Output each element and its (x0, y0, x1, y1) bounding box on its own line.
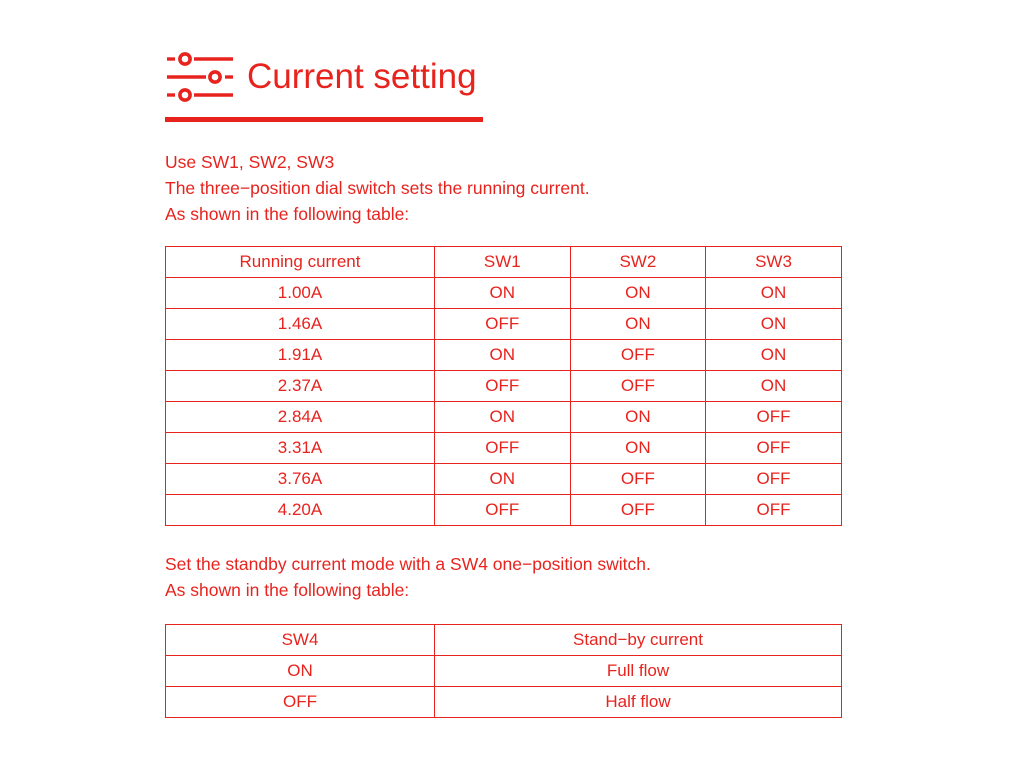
intro-paragraph: Use SW1, SW2, SW3 The three−position dia… (165, 149, 590, 227)
cell-sw2: OFF (570, 495, 706, 526)
intro-line-2: The three−position dial switch sets the … (165, 175, 590, 201)
cell-sw2: ON (570, 278, 706, 309)
column-header-sw2: SW2 (570, 247, 706, 278)
cell-sw2: OFF (570, 340, 706, 371)
cell-current: 2.37A (166, 371, 435, 402)
table-row: 2.37A OFF OFF ON (166, 371, 842, 402)
table-row: 3.31A OFF ON OFF (166, 433, 842, 464)
cell-sw2: ON (570, 402, 706, 433)
table-row: 1.00A ON ON ON (166, 278, 842, 309)
cell-sw1: ON (435, 278, 571, 309)
cell-sw3: OFF (706, 495, 842, 526)
column-header-running-current: Running current (166, 247, 435, 278)
table-header-row: SW4 Stand−by current (166, 625, 842, 656)
cell-current: 1.00A (166, 278, 435, 309)
standby-intro-paragraph: Set the standby current mode with a SW4 … (165, 551, 651, 603)
intro-line-3: As shown in the following table: (165, 201, 590, 227)
table-row: 1.91A ON OFF ON (166, 340, 842, 371)
cell-standby-mode: Half flow (435, 687, 842, 718)
cell-sw3: ON (706, 278, 842, 309)
cell-sw3: OFF (706, 402, 842, 433)
cell-sw2: OFF (570, 464, 706, 495)
table-row: 3.76A ON OFF OFF (166, 464, 842, 495)
table-row: OFF Half flow (166, 687, 842, 718)
page-title: Current setting (237, 57, 477, 97)
cell-current: 3.76A (166, 464, 435, 495)
column-header-sw1: SW1 (435, 247, 571, 278)
header-row: Current setting (165, 48, 865, 106)
cell-current: 1.91A (166, 340, 435, 371)
cell-sw3: ON (706, 309, 842, 340)
standby-current-table: SW4 Stand−by current ON Full flow OFF Ha… (165, 624, 842, 718)
cell-sw1: ON (435, 340, 571, 371)
cell-sw2: ON (570, 433, 706, 464)
column-header-standby-current: Stand−by current (435, 625, 842, 656)
cell-current: 1.46A (166, 309, 435, 340)
table-header-row: Running current SW1 SW2 SW3 (166, 247, 842, 278)
cell-sw3: ON (706, 340, 842, 371)
intro-line-1: Use SW1, SW2, SW3 (165, 149, 590, 175)
cell-sw2: ON (570, 309, 706, 340)
table-row: 4.20A OFF OFF OFF (166, 495, 842, 526)
cell-sw3: ON (706, 371, 842, 402)
cell-sw1: ON (435, 464, 571, 495)
cell-current: 4.20A (166, 495, 435, 526)
cell-sw1: OFF (435, 309, 571, 340)
cell-sw1: OFF (435, 371, 571, 402)
cell-sw2: OFF (570, 371, 706, 402)
table-row: 1.46A OFF ON ON (166, 309, 842, 340)
page-header: Current setting (165, 48, 865, 106)
cell-sw3: OFF (706, 433, 842, 464)
running-current-table: Running current SW1 SW2 SW3 1.00A ON ON … (165, 246, 842, 526)
standby-intro-line-1: Set the standby current mode with a SW4 … (165, 551, 651, 577)
table-row: 2.84A ON ON OFF (166, 402, 842, 433)
cell-current: 3.31A (166, 433, 435, 464)
cell-sw1: OFF (435, 495, 571, 526)
standby-intro-line-2: As shown in the following table: (165, 577, 651, 603)
cell-sw3: OFF (706, 464, 842, 495)
cell-current: 2.84A (166, 402, 435, 433)
cell-sw1: ON (435, 402, 571, 433)
cell-sw4: OFF (166, 687, 435, 718)
cell-sw4: ON (166, 656, 435, 687)
title-underline-rule (165, 117, 483, 122)
column-header-sw3: SW3 (706, 247, 842, 278)
cell-sw1: OFF (435, 433, 571, 464)
page-root: Current setting Use SW1, SW2, SW3 The th… (0, 0, 1024, 768)
cell-standby-mode: Full flow (435, 656, 842, 687)
table-row: ON Full flow (166, 656, 842, 687)
column-header-sw4: SW4 (166, 625, 435, 656)
sliders-settings-icon (165, 49, 237, 105)
